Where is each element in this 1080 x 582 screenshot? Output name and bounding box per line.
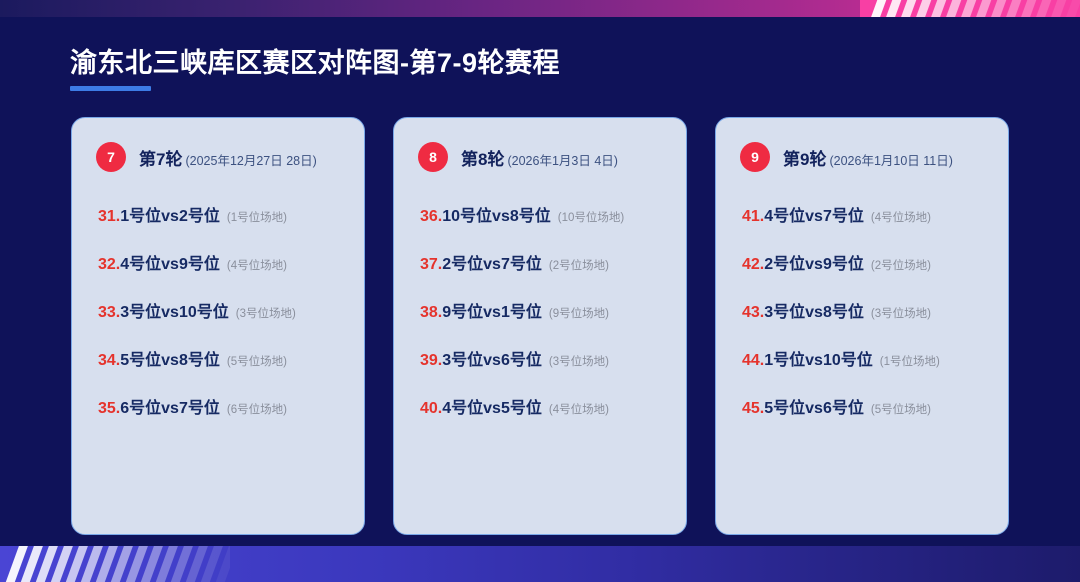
round-name: 第8轮 (461, 150, 504, 169)
round-title-group: 第8轮(2026年1月3日 4日) (461, 145, 618, 170)
match-list: 36.10号位vs8号位(10号位场地)37.2号位vs7号位(2号位场地)38… (394, 202, 686, 418)
match-pairing: 4号位vs9号位 (120, 250, 220, 274)
match-venue: (9号位场地) (549, 305, 609, 321)
match-row: 40.4号位vs5号位(4号位场地) (420, 394, 670, 418)
match-number: 45. (742, 400, 764, 418)
round-card-header: 8第8轮(2026年1月3日 4日) (394, 142, 686, 172)
match-pairing: 2号位vs7号位 (442, 250, 542, 274)
match-row: 45.5号位vs6号位(5号位场地) (742, 394, 992, 418)
match-venue: (4号位场地) (227, 257, 287, 273)
match-row: 36.10号位vs8号位(10号位场地) (420, 202, 670, 226)
match-row: 32.4号位vs9号位(4号位场地) (98, 250, 348, 274)
match-venue: (5号位场地) (871, 401, 931, 417)
round-cards-container: 7第7轮(2025年12月27日 28日)31.1号位vs2号位(1号位场地)3… (71, 117, 1009, 535)
match-row: 42.2号位vs9号位(2号位场地) (742, 250, 992, 274)
match-list: 41.4号位vs7号位(4号位场地)42.2号位vs9号位(2号位场地)43.3… (716, 202, 1008, 418)
match-pairing: 10号位vs8号位 (442, 202, 551, 226)
match-pairing: 3号位vs10号位 (120, 298, 229, 322)
top-right-stripe-decoration (860, 0, 1080, 17)
round-name: 第9轮 (783, 150, 826, 169)
round-name: 第7轮 (139, 150, 182, 169)
match-pairing: 5号位vs6号位 (764, 394, 864, 418)
match-number: 43. (742, 304, 764, 322)
match-number: 33. (98, 304, 120, 322)
round-title-group: 第7轮(2025年12月27日 28日) (139, 145, 317, 170)
match-venue: (4号位场地) (549, 401, 609, 417)
match-number: 40. (420, 400, 442, 418)
match-row: 43.3号位vs8号位(3号位场地) (742, 298, 992, 322)
round-date: (2026年1月10日 11日) (829, 154, 952, 168)
match-row: 35.6号位vs7号位(6号位场地) (98, 394, 348, 418)
match-number: 44. (742, 352, 764, 370)
match-venue: (3号位场地) (236, 305, 296, 321)
match-number: 42. (742, 256, 764, 274)
round-card: 7第7轮(2025年12月27日 28日)31.1号位vs2号位(1号位场地)3… (71, 117, 365, 535)
match-number: 41. (742, 208, 764, 226)
page-header: 渝东北三峡库区赛区对阵图-第7-9轮赛程 (70, 47, 560, 91)
match-pairing: 1号位vs10号位 (764, 346, 873, 370)
match-venue: (1号位场地) (227, 209, 287, 225)
match-venue: (2号位场地) (549, 257, 609, 273)
match-venue: (10号位场地) (558, 209, 624, 225)
match-row: 33.3号位vs10号位(3号位场地) (98, 298, 348, 322)
round-number-badge: 8 (418, 142, 448, 172)
match-number: 32. (98, 256, 120, 274)
round-card-header: 7第7轮(2025年12月27日 28日) (72, 142, 364, 172)
match-pairing: 3号位vs8号位 (764, 298, 864, 322)
match-number: 38. (420, 304, 442, 322)
match-row: 37.2号位vs7号位(2号位场地) (420, 250, 670, 274)
match-venue: (1号位场地) (880, 353, 940, 369)
match-row: 39.3号位vs6号位(3号位场地) (420, 346, 670, 370)
match-row: 34.5号位vs8号位(5号位场地) (98, 346, 348, 370)
round-card: 8第8轮(2026年1月3日 4日)36.10号位vs8号位(10号位场地)37… (393, 117, 687, 535)
match-venue: (4号位场地) (871, 209, 931, 225)
match-number: 31. (98, 208, 120, 226)
bottom-left-stripe-decoration (0, 546, 230, 582)
round-date: (2026年1月3日 4日) (507, 154, 617, 168)
match-pairing: 2号位vs9号位 (764, 250, 864, 274)
match-row: 38.9号位vs1号位(9号位场地) (420, 298, 670, 322)
match-venue: (2号位场地) (871, 257, 931, 273)
match-pairing: 6号位vs7号位 (120, 394, 220, 418)
title-underline-accent (70, 86, 151, 91)
match-number: 35. (98, 400, 120, 418)
round-number-badge: 7 (96, 142, 126, 172)
match-row: 44.1号位vs10号位(1号位场地) (742, 346, 992, 370)
match-row: 31.1号位vs2号位(1号位场地) (98, 202, 348, 226)
match-venue: (3号位场地) (549, 353, 609, 369)
match-number: 34. (98, 352, 120, 370)
match-pairing: 4号位vs5号位 (442, 394, 542, 418)
page-title: 渝东北三峡库区赛区对阵图-第7-9轮赛程 (70, 47, 560, 79)
match-pairing: 4号位vs7号位 (764, 202, 864, 226)
match-row: 41.4号位vs7号位(4号位场地) (742, 202, 992, 226)
match-venue: (6号位场地) (227, 401, 287, 417)
round-date: (2025年12月27日 28日) (185, 154, 316, 168)
match-venue: (3号位场地) (871, 305, 931, 321)
match-pairing: 5号位vs8号位 (120, 346, 220, 370)
match-list: 31.1号位vs2号位(1号位场地)32.4号位vs9号位(4号位场地)33.3… (72, 202, 364, 418)
match-number: 36. (420, 208, 442, 226)
match-number: 39. (420, 352, 442, 370)
match-pairing: 3号位vs6号位 (442, 346, 542, 370)
match-pairing: 1号位vs2号位 (120, 202, 220, 226)
match-pairing: 9号位vs1号位 (442, 298, 542, 322)
round-number-badge: 9 (740, 142, 770, 172)
round-card: 9第9轮(2026年1月10日 11日)41.4号位vs7号位(4号位场地)42… (715, 117, 1009, 535)
match-number: 37. (420, 256, 442, 274)
match-venue: (5号位场地) (227, 353, 287, 369)
round-title-group: 第9轮(2026年1月10日 11日) (783, 145, 953, 170)
round-card-header: 9第9轮(2026年1月10日 11日) (716, 142, 1008, 172)
